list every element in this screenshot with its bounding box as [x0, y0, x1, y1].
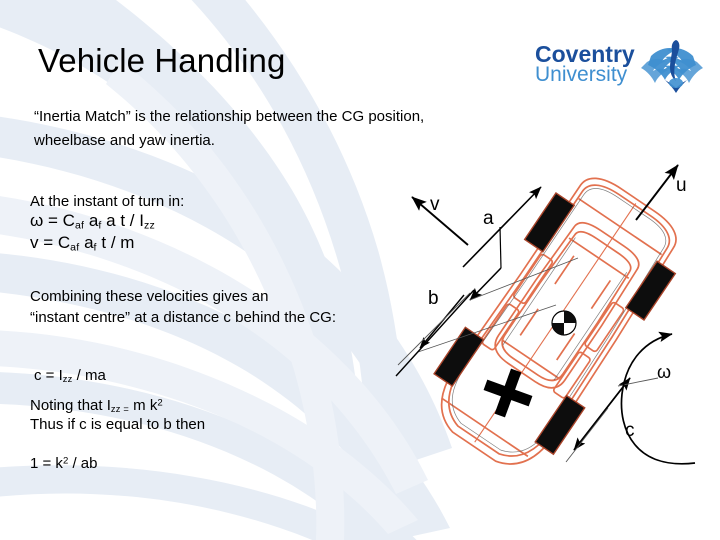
eq-omega-sub3: zz — [144, 219, 155, 231]
eq-noting-lhs: Noting that I — [30, 397, 111, 414]
eq-noting-sup1: 2 — [157, 398, 162, 409]
dimension-c — [566, 378, 658, 462]
arrow-v — [412, 197, 468, 245]
intro-line-1: “Inertia Match” is the relationship betw… — [34, 106, 424, 127]
equation-unity: 1 = k2 / ab — [30, 453, 97, 475]
coventry-university-logo-svg: Coventry University — [535, 36, 707, 96]
dimension-a-arrow-lower — [470, 268, 501, 300]
cg-circle-icon — [552, 311, 576, 335]
eq-unity-lhs: 1 = k — [30, 455, 63, 472]
eq-omega-tail: a t / I — [101, 211, 144, 230]
eq-unity-tail: / ab — [68, 455, 97, 472]
diagram-label-b: b — [428, 288, 439, 310]
coventry-university-logo: Coventry University — [535, 36, 707, 96]
eq-omega-sub1: af — [75, 219, 84, 231]
eq-noting-tail: m k — [129, 397, 157, 414]
logo-text-university: University — [535, 63, 628, 86]
diagram-label-omega: ω — [657, 362, 671, 383]
combine-line-2: “instant centre” at a distance c behind … — [30, 307, 336, 328]
equation-c: c = Izz / ma — [34, 365, 106, 387]
eq-v-tail: t / m — [97, 233, 135, 252]
dimension-a-arrow-upper — [463, 187, 541, 267]
thus-line: Thus if c is equal to b then — [30, 414, 205, 435]
equation-v: v = Caf af t / m — [30, 231, 134, 256]
eq-c-tail: / ma — [72, 367, 105, 384]
eq-noting-sub1: zz = — [111, 404, 129, 414]
intro-line-2: wheelbase and yaw inertia. — [34, 130, 424, 151]
page-title: Vehicle Handling — [38, 44, 285, 79]
diagram-label-u: u — [676, 175, 687, 197]
diagram-label-c: c — [625, 420, 635, 442]
yaw-rotation-arrow — [621, 334, 695, 464]
slide: Coventry University Vehicle Handling “In… — [0, 0, 720, 540]
phoenix-icon — [641, 40, 703, 93]
diagram-label-a: a — [483, 208, 494, 230]
eq-omega-lhs: ω = C — [30, 211, 75, 230]
combine-line-1: Combining these velocities gives an — [30, 286, 268, 307]
dimension-a — [463, 187, 541, 300]
instant-centre-cross-icon — [477, 362, 539, 424]
arrow-u — [636, 165, 678, 220]
intro-paragraph: “Inertia Match” is the relationship betw… — [34, 106, 424, 152]
eq-v-mid: a — [79, 233, 93, 252]
eq-v-sub1: af — [70, 241, 79, 253]
eq-c-sub1: zz — [63, 374, 73, 384]
eq-omega-mid: a — [84, 211, 98, 230]
eq-v-lhs: v = C — [30, 233, 70, 252]
diagram-label-v: v — [430, 194, 440, 216]
equation-omega: ω = Caf af a t / Izz — [30, 209, 155, 234]
eq-c-lhs: c = I — [34, 367, 63, 384]
